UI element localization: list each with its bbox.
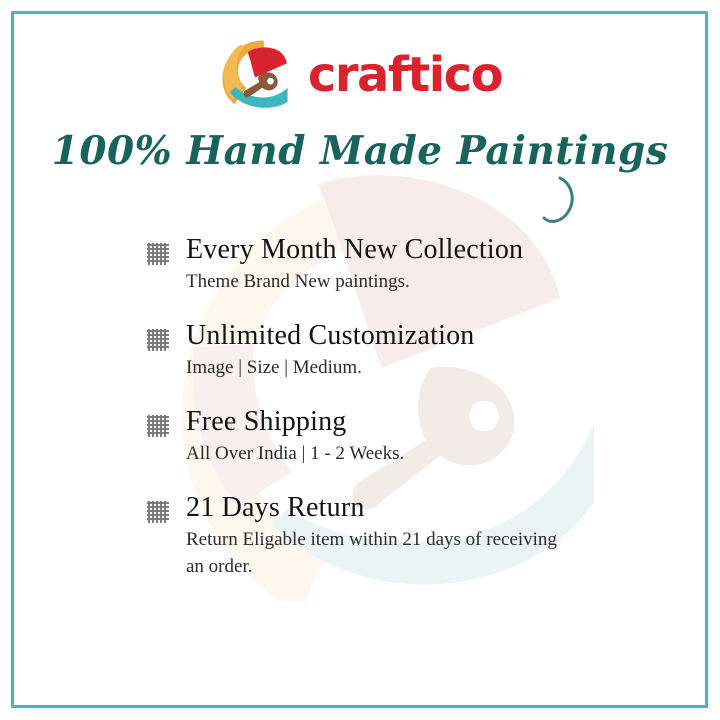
feature-title: Every Month New Collection xyxy=(186,232,616,267)
woven-square-icon xyxy=(146,414,170,438)
woven-square-icon xyxy=(146,328,170,352)
woven-square-icon xyxy=(146,500,170,524)
list-item: 21 Days Return Return Eligable item with… xyxy=(146,490,616,581)
feature-list: Every Month New Collection Theme Brand N… xyxy=(146,232,616,581)
feature-subtitle: All Over India | 1 - 2 Weeks. xyxy=(186,441,566,468)
brand-name: craftico xyxy=(308,51,502,99)
brand-logo: craftico xyxy=(0,34,720,112)
woven-square-icon xyxy=(146,242,170,266)
feature-title: 21 Days Return xyxy=(186,490,616,525)
list-item: Free Shipping All Over India | 1 - 2 Wee… xyxy=(146,404,616,468)
feature-subtitle: Return Eligable item within 21 days of r… xyxy=(186,527,566,581)
list-item: Unlimited Customization Image | Size | M… xyxy=(146,318,616,382)
headline-title: 100% Hand Made Paintings xyxy=(0,128,720,174)
feature-subtitle: Theme Brand New paintings. xyxy=(186,269,566,296)
feature-subtitle: Image | Size | Medium. xyxy=(186,355,566,382)
feature-title: Free Shipping xyxy=(186,404,616,439)
feature-title: Unlimited Customization xyxy=(186,318,616,353)
craftico-c-paintbrush-logo-icon xyxy=(218,36,292,110)
list-item: Every Month New Collection Theme Brand N… xyxy=(146,232,616,296)
promo-banner: craftico 100% Hand Made Paintings xyxy=(0,0,720,720)
